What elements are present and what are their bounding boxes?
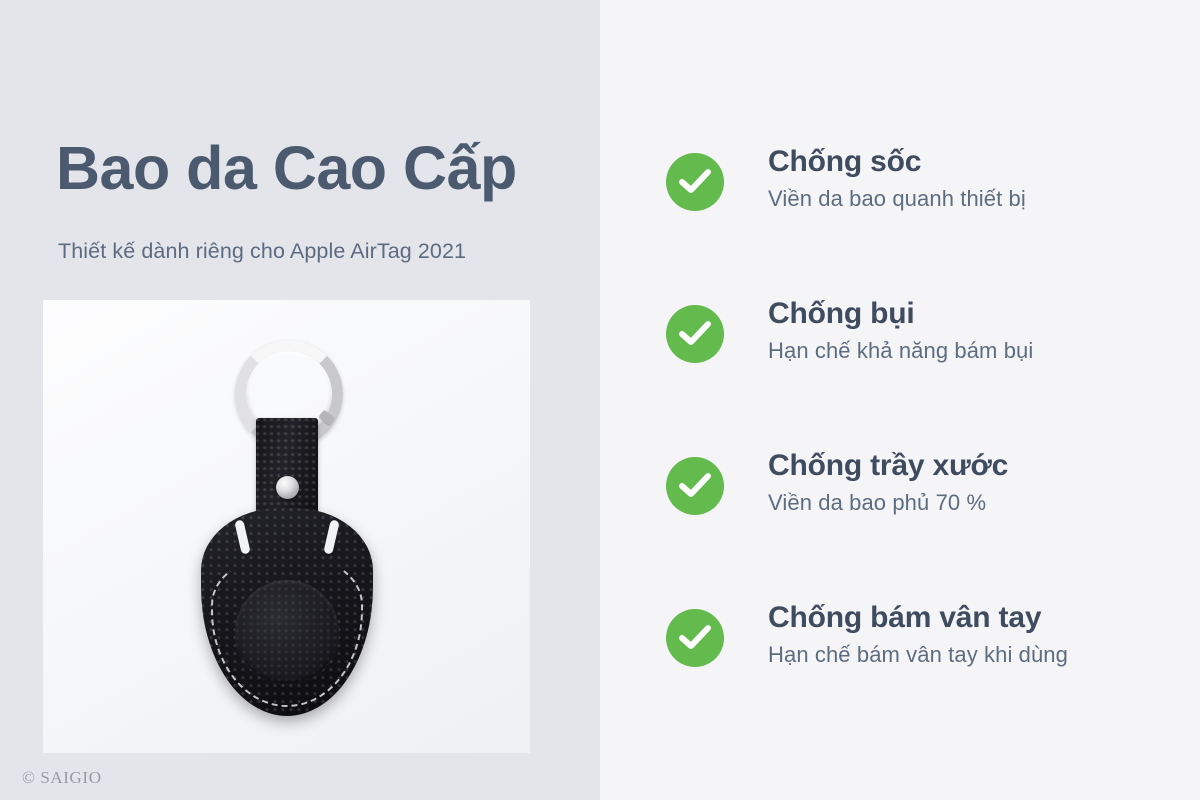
page-subtitle: Thiết kế dành riêng cho Apple AirTag 202… [58,239,466,264]
feature-description: Hạn chế bám vân tay khi dùng [768,641,1068,669]
feature-title: Chống bám vân tay [768,600,1068,636]
strap-slot-right [323,519,339,554]
check-mark-icon [679,168,711,196]
metal-rivet [276,476,299,499]
check-circle-icon [666,609,724,667]
feature-text: Chống trầy xước Viền da bao phủ 70 % [768,448,1008,517]
feature-text: Chống bụi Hạn chế khả năng bám bụi [768,296,1033,365]
product-photo [43,300,530,753]
feature-text: Chống sốc Viền da bao quanh thiết bị [768,144,1026,213]
feature-title: Chống bụi [768,296,1033,332]
left-panel: Bao da Cao Cấp Thiết kế dành riêng cho A… [0,0,600,800]
check-mark-icon [679,320,711,348]
check-mark-icon [679,472,711,500]
feature-title: Chống sốc [768,144,1026,180]
feature-description: Hạn chế khả năng bám bụi [768,337,1033,365]
right-panel: Chống sốc Viền da bao quanh thiết bị Chố… [600,0,1200,800]
feature-item: Chống bám vân tay Hạn chế bám vân tay kh… [666,600,1180,752]
product-banner: Bao da Cao Cấp Thiết kế dành riêng cho A… [0,0,1200,800]
feature-text: Chống bám vân tay Hạn chế bám vân tay kh… [768,600,1068,669]
strap-slot-left [234,519,250,554]
feature-item: Chống bụi Hạn chế khả năng bám bụi [666,296,1180,448]
check-mark-icon [679,624,711,652]
page-title: Bao da Cao Cấp [56,136,517,200]
leather-teardrop-case [201,508,373,716]
check-circle-icon [666,457,724,515]
contrast-stitching [211,552,363,707]
copyright-notice: © SAIGIO [22,768,102,788]
check-circle-icon [666,305,724,363]
feature-item: Chống sốc Viền da bao quanh thiết bị [666,144,1180,296]
feature-description: Viền da bao quanh thiết bị [768,185,1026,213]
check-circle-icon [666,153,724,211]
key-ring-gap [318,410,335,426]
feature-description: Viền da bao phủ 70 % [768,489,1008,517]
feature-item: Chống trầy xước Viền da bao phủ 70 % [666,448,1180,600]
feature-title: Chống trầy xước [768,448,1008,484]
product-photo-stage [43,300,530,753]
feature-list: Chống sốc Viền da bao quanh thiết bị Chố… [666,144,1180,752]
